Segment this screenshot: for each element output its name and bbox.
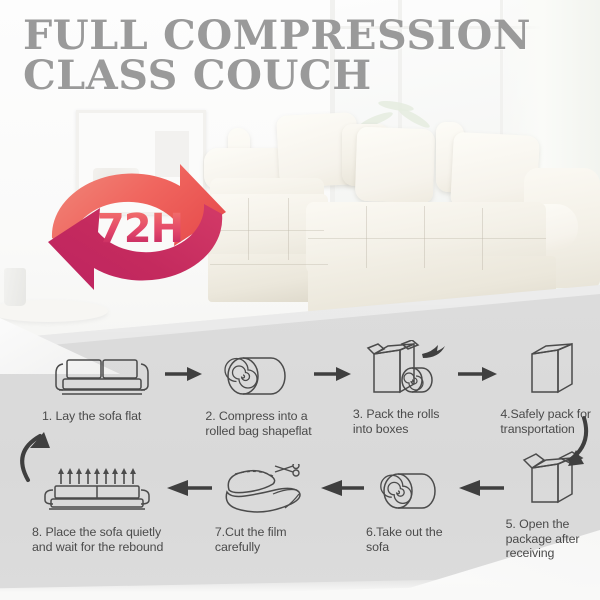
rolled-sofa-icon [378,468,444,516]
arrow-right-icon [165,366,203,382]
arrow-right-icon [314,366,352,382]
process-row-bottom: 8. Place the sofa quietly and wait for t… [0,462,600,561]
page-title: FULL COMPRESSION CLASS COUCH [23,16,600,96]
step-7: 7.Cut the film carefully [215,462,319,561]
arrow-6-to-7 [319,462,366,514]
arrow-left-icon [458,479,504,497]
step-6: 6.Take out the sofa [366,462,456,561]
curved-arrow-down-icon [532,414,594,476]
title-line-2: CLASS COUCH [23,56,600,96]
infographic-canvas: FULL COMPRESSION CLASS COUCH [0,0,600,600]
step-3-icon-wrap [353,342,457,398]
step-2: 2. Compress into a rolled bag shapeflat [205,348,313,438]
rolled-bag-icon [223,352,295,400]
connector-left [6,418,68,489]
step-5-caption: 5. Open the package after receiving [506,517,600,561]
cycle-duration-label: 72H [44,142,230,312]
arrow-5-to-6 [456,462,505,514]
step-3-caption: 3. Pack the rolls into boxes [353,407,457,436]
step-8-caption: 8. Place the sofa quietly and wait for t… [32,525,164,554]
step-7-icon-wrap [215,462,319,516]
step-3: 3. Pack the rolls into boxes [353,348,457,438]
sofa-flat-icon [49,354,157,400]
arrow-left-icon [320,479,364,497]
arrow-right-icon [458,366,498,382]
step-1-icon-wrap [42,348,164,400]
step-2-caption: 2. Compress into a rolled bag shapeflat [205,409,313,438]
step-4-icon-wrap [500,342,600,398]
box-with-roll-icon [358,340,452,398]
step-6-caption: 6.Take out the sofa [366,525,456,554]
arrow-2-to-3 [313,348,353,400]
cycle-72h-badge: 72H [44,142,230,312]
step-2-icon-wrap [205,348,313,400]
arrow-7-to-8 [164,462,215,514]
arrow-1-to-2 [164,348,206,400]
sealed-box-icon [520,340,580,398]
step-6-icon-wrap [366,462,456,516]
cycle-duration-text: 72H [97,209,183,249]
connector-right [532,414,594,481]
process-row-top: 1. Lay the sofa flat 2. Compr [0,348,600,438]
curved-arrow-up-icon [6,418,68,484]
arrow-3-to-4 [457,348,501,400]
step-7-caption: 7.Cut the film carefully [215,525,319,554]
arrow-left-icon [166,479,212,497]
cut-film-scissors-icon [215,464,319,516]
